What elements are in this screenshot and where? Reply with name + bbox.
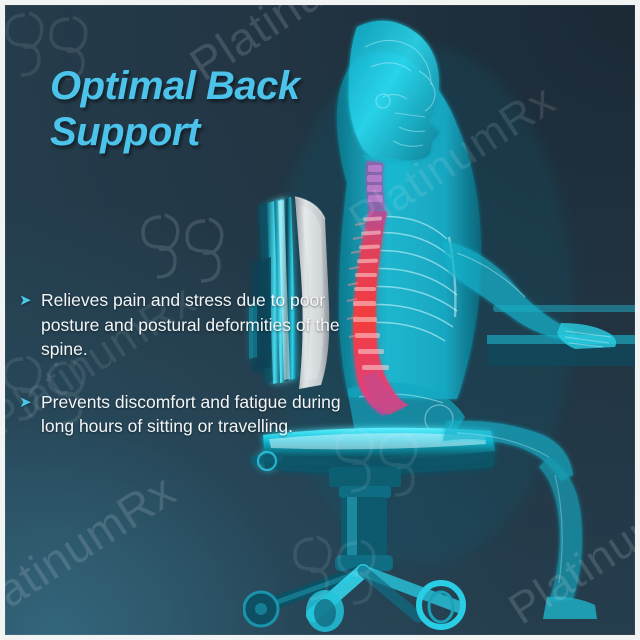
list-item-text: Prevents discomfort and fatigue during l… [41, 390, 349, 439]
list-item: ➤ Relieves pain and stress due to poor p… [19, 288, 349, 362]
page-title-line-2: Support [50, 109, 350, 155]
watermark-logo-icon [133, 203, 229, 289]
arrow-bullet-icon: ➤ [19, 289, 32, 313]
arrow-bullet-icon: ➤ [19, 391, 32, 415]
poster-frame: PlatinumRx PlatinumRx PlatinumRx Platinu… [0, 0, 640, 640]
list-item: ➤ Prevents discomfort and fatigue during… [19, 390, 349, 439]
list-item-text: Relieves pain and stress due to poor pos… [41, 288, 349, 362]
watermark-text: PlatinumRx [5, 463, 185, 635]
benefit-list: ➤ Relieves pain and stress due to poor p… [19, 288, 349, 467]
page-title-line-1: Optimal Back [50, 63, 350, 109]
page-title: Optimal Back Support [50, 63, 350, 155]
poster-panel: PlatinumRx PlatinumRx PlatinumRx Platinu… [5, 5, 635, 635]
